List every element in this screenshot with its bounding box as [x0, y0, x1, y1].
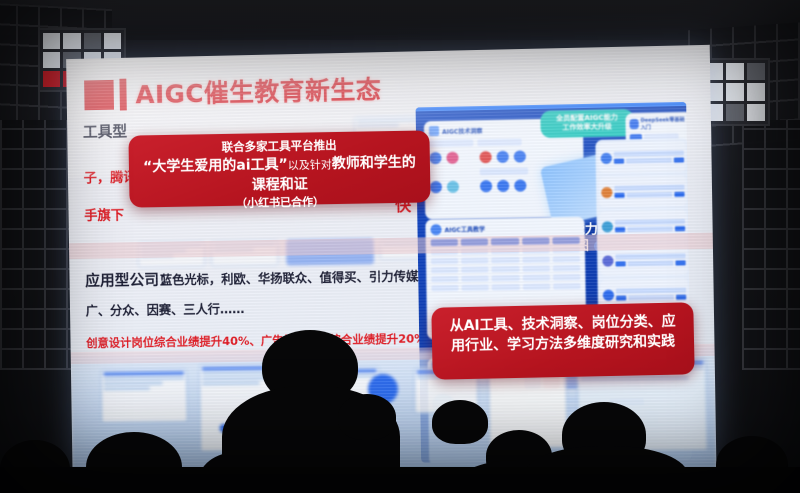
photo-scene: AIGC催生教育新生态 工具型 子，腾讯 手旗下 扣 快 应用型公司： 蓝色光标…	[0, 0, 800, 493]
card-tools-title: AIGC工具教学	[445, 224, 486, 234]
wall-lattice-right-lower	[742, 120, 800, 370]
audience-head	[338, 394, 396, 440]
callout-top-line-2: “大学生爱用的ai工具”以及针对教师和学生的课程和证	[137, 152, 423, 197]
left-text-partial-2: 手旗下	[84, 205, 124, 228]
node-icon	[514, 179, 526, 191]
audience-head	[432, 400, 488, 444]
callout-bottom-research: 从AI工具、技术洞察、岗位分类、应 用行业、学习方法多维度研究和实践	[431, 302, 694, 379]
avatar-icon	[601, 186, 612, 197]
callout-top-partnership: 联合多家工具平台推出 “大学生爱用的ai工具”以及针对教师和学生的课程和证 （小…	[128, 130, 430, 207]
callout-bottom-line-2: 用行业、学习方法多维度研究和实践	[438, 330, 688, 355]
callout-top-quote: “大学生爱用的ai工具”	[143, 157, 288, 176]
avatar-icon	[602, 255, 613, 266]
node-icon	[497, 180, 509, 192]
teacher-icon	[430, 224, 441, 235]
wall-lattice-left-lower	[0, 120, 74, 370]
avatar-icon	[602, 221, 613, 232]
applied-companies-line-2: 广、分众、因赛、三人行……	[86, 298, 245, 321]
callout-top-rest: 以及针对	[288, 158, 332, 172]
applied-companies-line-1: 蓝色光标，利欧、华扬联众、值得买、引力传媒、省	[160, 265, 444, 290]
node-icon	[480, 180, 492, 192]
node-icon	[447, 181, 459, 193]
node-icon	[430, 181, 442, 193]
role-row	[599, 176, 687, 208]
avatar-icon	[603, 289, 614, 300]
foreground-shadow	[0, 467, 800, 493]
